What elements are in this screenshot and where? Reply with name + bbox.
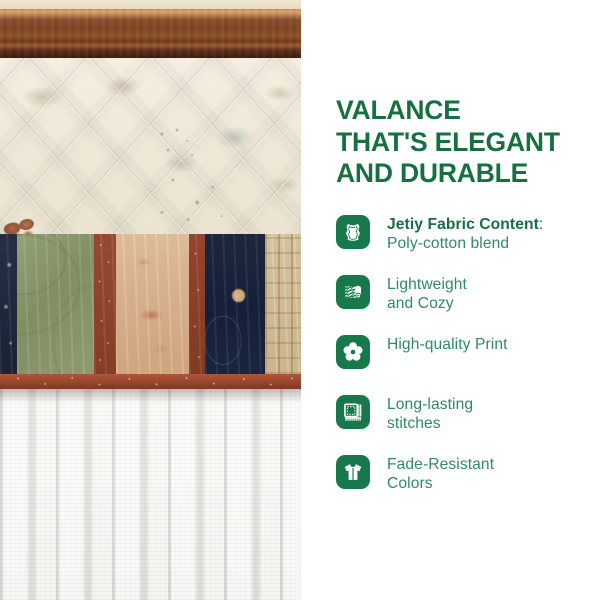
feature-line-2: stitches	[387, 415, 441, 432]
list-item-label: Lightweight and Cozy	[387, 274, 467, 314]
stitched-patch-icon	[336, 395, 370, 429]
list-item: Fade-Resistant Colors	[336, 454, 594, 514]
patch-navy-flower	[205, 234, 265, 374]
product-photo	[0, 0, 301, 600]
patch-rust-speckle	[189, 234, 205, 374]
feature-list: Jetiy Fabric Content: Poly-cotton blend	[336, 214, 594, 514]
list-item-label: High-quality Print	[387, 334, 508, 355]
feature-line-2: Colors	[387, 475, 433, 492]
headline-line-1: VALANCE	[336, 95, 586, 127]
list-item: High-quality Print	[336, 334, 594, 394]
floral-sprig	[150, 124, 210, 174]
fabric-roll-icon	[336, 275, 370, 309]
feature-line-2: and Cozy	[387, 295, 454, 312]
feature-bold-label: Jetiy Fabric Content	[387, 216, 539, 233]
feature-line-1: High-quality Print	[387, 336, 508, 353]
list-item-label: Fade-Resistant Colors	[387, 454, 494, 494]
patch-rust-speckle	[94, 234, 116, 374]
list-item: Long-lasting stitches	[336, 394, 594, 454]
patch-peach-tan	[116, 234, 189, 374]
patch-sage-green	[17, 234, 94, 374]
page-title: VALANCE THAT'S ELEGANT AND DURABLE	[336, 95, 586, 190]
patch-navy-floral	[0, 234, 17, 374]
feature-line-1: Poly-cotton blend	[387, 235, 509, 252]
feature-line-1: Lightweight	[387, 276, 467, 293]
list-item-label: Jetiy Fabric Content: Poly-cotton blend	[387, 214, 543, 254]
flower-print-icon	[336, 335, 370, 369]
headline-line-3: AND DURABLE	[336, 158, 586, 190]
infographic-canvas: VALANCE THAT'S ELEGANT AND DURABLE Jetiy…	[0, 0, 600, 600]
list-item-label: Long-lasting stitches	[387, 394, 473, 434]
floral-sprig	[140, 153, 250, 243]
headline-line-2: THAT'S ELEGANT	[336, 127, 586, 159]
patch-tan-plaid	[265, 234, 301, 374]
list-item: Jetiy Fabric Content: Poly-cotton blend	[336, 214, 594, 274]
white-sheer-curtain	[0, 389, 301, 600]
feature-separator: :	[539, 216, 543, 233]
rust-floral-binding	[0, 374, 301, 389]
leather-hide-icon	[336, 215, 370, 249]
wooden-cornice	[0, 9, 301, 58]
tshirt-icon	[336, 455, 370, 489]
info-panel: VALANCE THAT'S ELEGANT AND DURABLE Jetiy…	[301, 0, 600, 600]
cream-quilted-floral-panel	[0, 58, 301, 234]
list-item: Lightweight and Cozy	[336, 274, 594, 334]
wall-strip	[0, 0, 301, 9]
feature-line-1: Fade-Resistant	[387, 456, 494, 473]
patchwork-block-band	[0, 234, 301, 374]
feature-line-1: Long-lasting	[387, 396, 473, 413]
